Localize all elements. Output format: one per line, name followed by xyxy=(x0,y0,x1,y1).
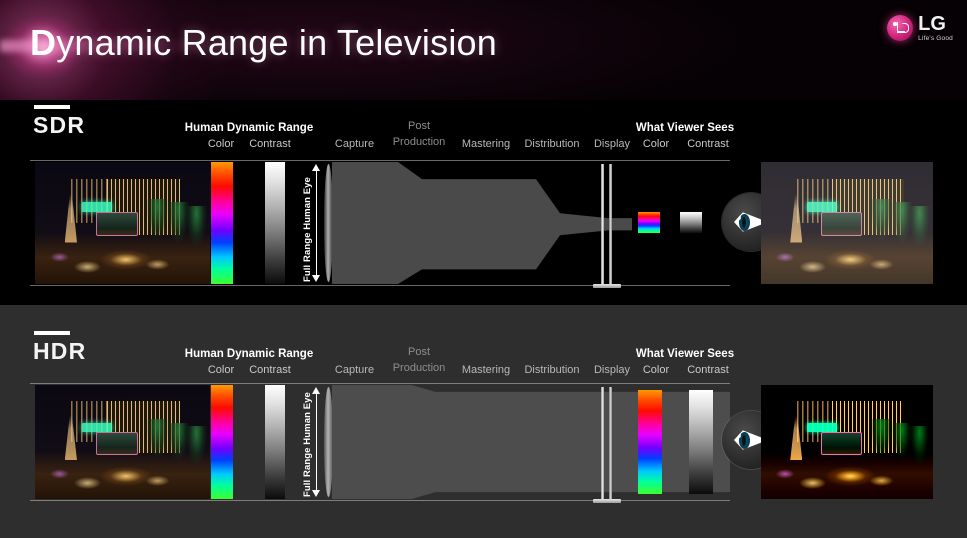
hdr-stage-distribution: Distribution xyxy=(516,364,588,377)
output-palm-3 xyxy=(909,426,930,465)
section-sdr: SDR Human Dynamic Range Color Contrast C… xyxy=(0,100,967,305)
stand-post-front xyxy=(601,164,604,284)
sdr-output-contrast-bar xyxy=(680,212,702,233)
arrow-head-down-icon xyxy=(312,275,320,282)
section-hdr: HDR Human Dynamic Range Color Contrast C… xyxy=(0,305,967,538)
eye-glint xyxy=(738,215,741,220)
hdr-stage-post: Post xyxy=(390,346,448,359)
lg-tagline: Life's Good xyxy=(918,36,953,43)
hdr-band-top-edge xyxy=(30,383,730,384)
output-palm-1 xyxy=(871,419,892,458)
sdr-input-color-bar xyxy=(211,162,233,284)
stand-post-back xyxy=(609,387,612,499)
slide-canvas: Dynamic Range in Television LG Life's Go… xyxy=(0,0,967,538)
eye-pupil xyxy=(742,217,746,228)
sdr-band-bottom-edge xyxy=(30,285,730,286)
sdr-input-contrast-label: Contrast xyxy=(243,138,297,150)
sdr-output-group-title: What Viewer Sees xyxy=(627,122,743,134)
sdr-output-color-bar xyxy=(638,212,660,233)
sdr-input-group-title: Human Dynamic Range xyxy=(184,122,314,134)
output-tower xyxy=(790,415,802,461)
eye-pupil xyxy=(742,435,746,446)
slide-header: Dynamic Range in Television LG Life's Go… xyxy=(0,0,967,100)
stand-foot xyxy=(593,284,621,288)
hdr-output-color-bar xyxy=(638,390,662,494)
sdr-input-contrast-bar xyxy=(265,162,285,284)
source-palm-1 xyxy=(147,199,168,240)
hdr-band-bottom-edge xyxy=(30,500,730,501)
sdr-range-arrow xyxy=(311,164,321,282)
sdr-mode-label: SDR xyxy=(33,112,85,139)
sdr-output-contrast-label: Contrast xyxy=(679,138,737,150)
hdr-input-color-bar xyxy=(211,385,233,499)
hdr-capture-lens xyxy=(324,387,333,497)
sdr-source-image xyxy=(35,162,210,284)
hdr-input-contrast-bar xyxy=(265,385,285,499)
page-title-rest: ynamic Range in Television xyxy=(56,22,497,63)
hdr-output-color-label: Color xyxy=(637,364,675,376)
arrow-shaft xyxy=(316,393,317,491)
sdr-stage-mastering: Mastering xyxy=(455,138,517,151)
hdr-rule-accent xyxy=(34,331,70,335)
hdr-diagram-band: Full Range Human Eye xyxy=(0,383,967,501)
source-palm-3 xyxy=(186,206,207,247)
lg-face-mark-icon xyxy=(887,15,913,41)
sdr-stage-display: Display xyxy=(588,138,636,151)
hdr-input-color-label: Color xyxy=(201,364,241,376)
sdr-pipeline-funnel xyxy=(332,162,632,284)
source-tower xyxy=(65,415,77,461)
arrow-head-down-icon xyxy=(312,490,320,497)
source-billboard-screen xyxy=(96,432,138,455)
hdr-output-group-title: What Viewer Sees xyxy=(627,348,743,360)
hdr-output-contrast-label: Contrast xyxy=(679,364,737,376)
lg-letter-g-arc xyxy=(902,23,909,33)
source-neon-sign xyxy=(82,423,112,432)
page-title-initial: D xyxy=(30,22,56,63)
sdr-output-image xyxy=(761,162,933,284)
hdr-input-group-title: Human Dynamic Range xyxy=(182,348,316,360)
hdr-source-image xyxy=(35,385,210,499)
sdr-diagram-band: Full Range Human Eye xyxy=(0,160,967,286)
hdr-stage-production: Production xyxy=(385,362,453,375)
output-neon-sign xyxy=(807,423,836,432)
eye-glint xyxy=(738,433,741,438)
sdr-capture-lens xyxy=(324,164,333,282)
lg-logo: LG Life's Good xyxy=(887,14,953,43)
hdr-output-image xyxy=(761,385,933,499)
sdr-input-color-label: Color xyxy=(201,138,241,150)
hdr-pipeline-funnel xyxy=(332,385,730,499)
lg-brand-name: LG xyxy=(918,14,946,34)
sdr-stage-production: Production xyxy=(385,136,453,149)
source-tower xyxy=(65,194,77,243)
hdr-mode-label: HDR xyxy=(33,338,86,365)
page-title: Dynamic Range in Television xyxy=(30,22,497,64)
stand-foot xyxy=(593,499,621,503)
sdr-stage-capture: Capture xyxy=(327,138,382,151)
hdr-display-stand xyxy=(601,387,629,499)
hdr-input-contrast-label: Contrast xyxy=(243,364,297,376)
arrow-shaft xyxy=(316,170,317,276)
source-billboard-screen xyxy=(96,212,138,236)
hdr-stage-capture: Capture xyxy=(327,364,382,377)
sdr-output-color-label: Color xyxy=(637,138,675,150)
sdr-band-top-edge xyxy=(30,160,730,161)
sdr-stage-post: Post xyxy=(390,120,448,133)
source-neon-sign xyxy=(82,202,112,212)
hdr-stage-display: Display xyxy=(588,364,636,377)
stand-post-front xyxy=(601,387,604,499)
hdr-range-arrow xyxy=(311,387,321,497)
sdr-stage-distribution: Distribution xyxy=(516,138,588,151)
sdr-rule-accent xyxy=(34,105,70,109)
sdr-washout-overlay xyxy=(761,162,933,284)
hdr-output-contrast-bar xyxy=(689,390,713,494)
output-billboard-screen xyxy=(821,432,862,455)
stand-post-back xyxy=(609,164,612,284)
hdr-stage-mastering: Mastering xyxy=(455,364,517,377)
source-palm-1 xyxy=(147,419,168,458)
lg-wordmark: LG Life's Good xyxy=(918,14,953,43)
sdr-display-stand xyxy=(601,164,629,284)
source-palm-3 xyxy=(186,426,207,465)
